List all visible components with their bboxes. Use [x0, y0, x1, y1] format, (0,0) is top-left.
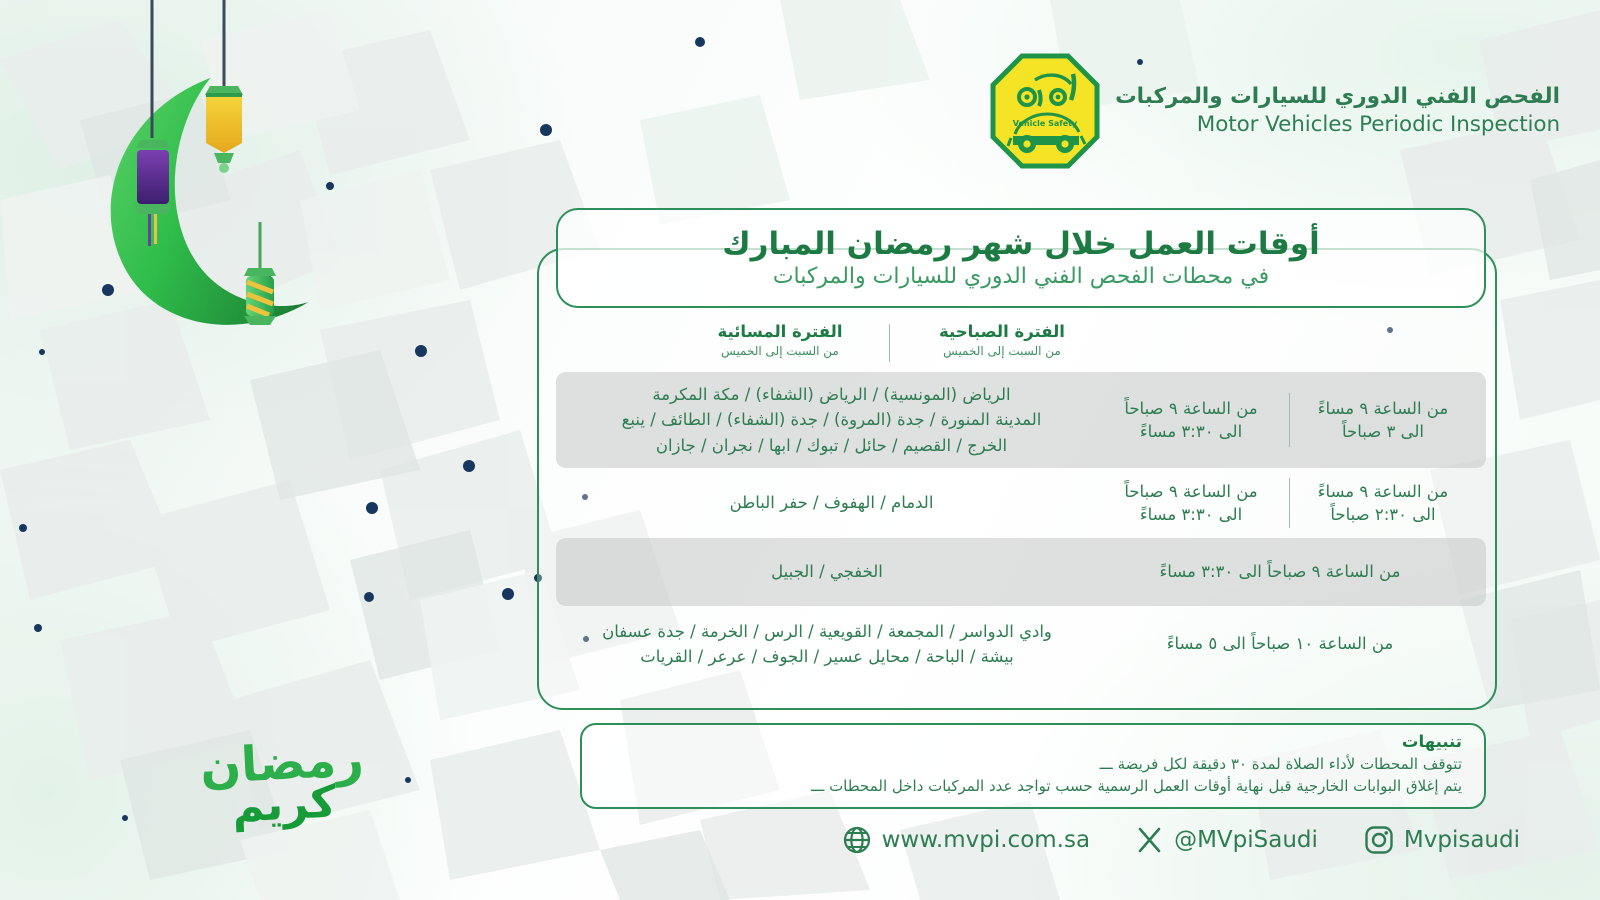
crescent-moon-lanterns-decoration [28, 0, 368, 330]
mvpi-logo-icon: Vehicle Safety [989, 52, 1101, 170]
row-cities: الرياض (المونسية) / الرياض (الشفاء) / مك… [556, 382, 1093, 457]
column-header-divider [889, 324, 890, 362]
row-evening-line: من الساعة ٩ مساءً [1290, 480, 1476, 503]
instagram-handle[interactable]: Mvpisaudi [1404, 827, 1520, 853]
website-url[interactable]: www.mvpi.com.sa [882, 827, 1090, 853]
schedule-rows: من الساعة ٩ مساءً الى ٣ صباحاً من الساعة… [556, 372, 1486, 682]
notice-bullet-icon: ـــ [1100, 755, 1113, 773]
social-instagram[interactable]: Mvpisaudi [1364, 825, 1520, 855]
table-row: من الساعة ٩ مساءً الى ٣ صباحاً من الساعة… [556, 372, 1486, 468]
brand-name-english: Motor Vehicles Periodic Inspection [1115, 111, 1560, 139]
row-cities: الدمام / الهفوف / حفر الباطن [556, 490, 1093, 515]
brand-name-arabic: الفحص الفني الدوري للسيارات والمركبات [1115, 83, 1560, 111]
row-cities: الخفجي / الجبيل [556, 559, 1084, 584]
row-city-line: الخرج / القصيم / حائل / تبوك / ابها / نج… [570, 433, 1093, 458]
row-divider [1289, 478, 1290, 528]
notice-item-text: يتم إغلاق البوابات الخارجية قبل نهاية أو… [829, 777, 1462, 795]
logo-tagline: Vehicle Safety [1013, 119, 1078, 128]
table-row: من الساعة ١٠ صباحاً الى ٥ مساءً وادي الد… [556, 606, 1486, 682]
row-morning-time: من الساعة ٩ صباحاً الى ٣:٣٠ مساءً [1093, 480, 1289, 527]
row-evening-time: من الساعة ٩ مساءً الى ٣ صباحاً [1290, 397, 1476, 444]
x-handle[interactable]: @MVpiSaudi [1174, 827, 1318, 853]
row-city-line: الرياض (المونسية) / الرياض (الشفاء) / مك… [570, 382, 1093, 407]
social-footer: Mvpisaudi @MVpiSaudi www.mvpi.com.sa [820, 812, 1520, 868]
row-morning-line: الى ٣:٣٠ مساءً [1093, 420, 1289, 443]
row-evening-line: الى ٣ صباحاً [1290, 420, 1476, 443]
table-row: من الساعة ٩ مساءً الى ٢:٣٠ صباحاً من الس… [556, 468, 1486, 538]
notices-box: تنبيهات تتوقف المحطات لأداء الصلاة لمدة … [580, 723, 1486, 809]
x-twitter-icon[interactable] [1136, 826, 1164, 854]
notice-item: تتوقف المحطات لأداء الصلاة لمدة ٣٠ دقيقة… [604, 753, 1462, 776]
row-span-time: من الساعة ٩ صباحاً الى ٣:٣٠ مساءً [1084, 560, 1476, 583]
row-morning-line: الى ٣:٣٠ مساءً [1093, 503, 1289, 526]
brand-header: الفحص الفني الدوري للسيارات والمركبات Mo… [989, 52, 1560, 170]
row-city-line: الدمام / الهفوف / حفر الباطن [570, 490, 1093, 515]
ramadan-kareem-calligraphy: رمضان كريم [140, 735, 370, 845]
column-header-morning-title: الفترة الصباحية [916, 322, 1088, 342]
title-box: أوقات العمل خلال شهر رمضان المبارك في مح… [556, 208, 1486, 308]
row-morning-time: من الساعة ٩ صباحاً الى ٣:٣٠ مساءً [1093, 397, 1289, 444]
column-header-morning-sub: من السبت إلى الخميس [916, 344, 1088, 358]
ramadan-kareem-line2: كريم [231, 776, 338, 832]
row-city-line: وادي الدواسر / المجمعة / القويعية / الرس… [570, 619, 1084, 644]
row-morning-line: من الساعة ٩ صباحاً [1093, 397, 1289, 420]
row-cities: وادي الدواسر / المجمعة / القويعية / الرس… [556, 619, 1084, 669]
row-city-line: بيشة / الباحة / محايل عسير / الجوف / عرع… [570, 644, 1084, 669]
notice-item: يتم إغلاق البوابات الخارجية قبل نهاية أو… [604, 775, 1462, 798]
social-x[interactable]: @MVpiSaudi [1136, 826, 1318, 854]
notices-title: تنبيهات [604, 732, 1462, 753]
row-morning-line: من الساعة ٩ صباحاً [1093, 480, 1289, 503]
brand-text: الفحص الفني الدوري للسيارات والمركبات Mo… [1115, 83, 1560, 138]
row-evening-line: الى ٢:٣٠ صباحاً [1290, 503, 1476, 526]
row-span-time: من الساعة ١٠ صباحاً الى ٥ مساءً [1084, 632, 1476, 655]
social-website[interactable]: www.mvpi.com.sa [842, 825, 1090, 855]
row-city-line: الخفجي / الجبيل [570, 559, 1084, 584]
row-evening-line: من الساعة ٩ مساءً [1290, 397, 1476, 420]
row-city-line: المدينة المنورة / جدة (المروة) / جدة (ال… [570, 407, 1093, 432]
row-evening-time: من الساعة ٩ مساءً الى ٢:٣٠ صباحاً [1290, 480, 1476, 527]
instagram-icon[interactable] [1364, 825, 1394, 855]
globe-icon[interactable] [842, 825, 872, 855]
notice-bullet-icon: ـــ [811, 777, 824, 795]
notice-item-text: تتوقف المحطات لأداء الصلاة لمدة ٣٠ دقيقة… [1118, 755, 1462, 773]
column-header-evening-sub: من السبت إلى الخميس [700, 344, 860, 358]
column-header-morning: الفترة الصباحية من السبت إلى الخميس [916, 322, 1088, 358]
page-title: أوقات العمل خلال شهر رمضان المبارك [722, 227, 1319, 263]
column-header-evening-title: الفترة المسائية [700, 322, 860, 342]
column-header-evening: الفترة المسائية من السبت إلى الخميس [700, 322, 860, 358]
row-divider [1289, 393, 1290, 447]
table-row: من الساعة ٩ صباحاً الى ٣:٣٠ مساءً الخفجي… [556, 538, 1486, 606]
page-subtitle: في محطات الفحص الفني الدوري للسيارات وال… [773, 264, 1269, 289]
table-column-headers: الفترة المسائية من السبت إلى الخميس الفت… [556, 322, 1486, 370]
